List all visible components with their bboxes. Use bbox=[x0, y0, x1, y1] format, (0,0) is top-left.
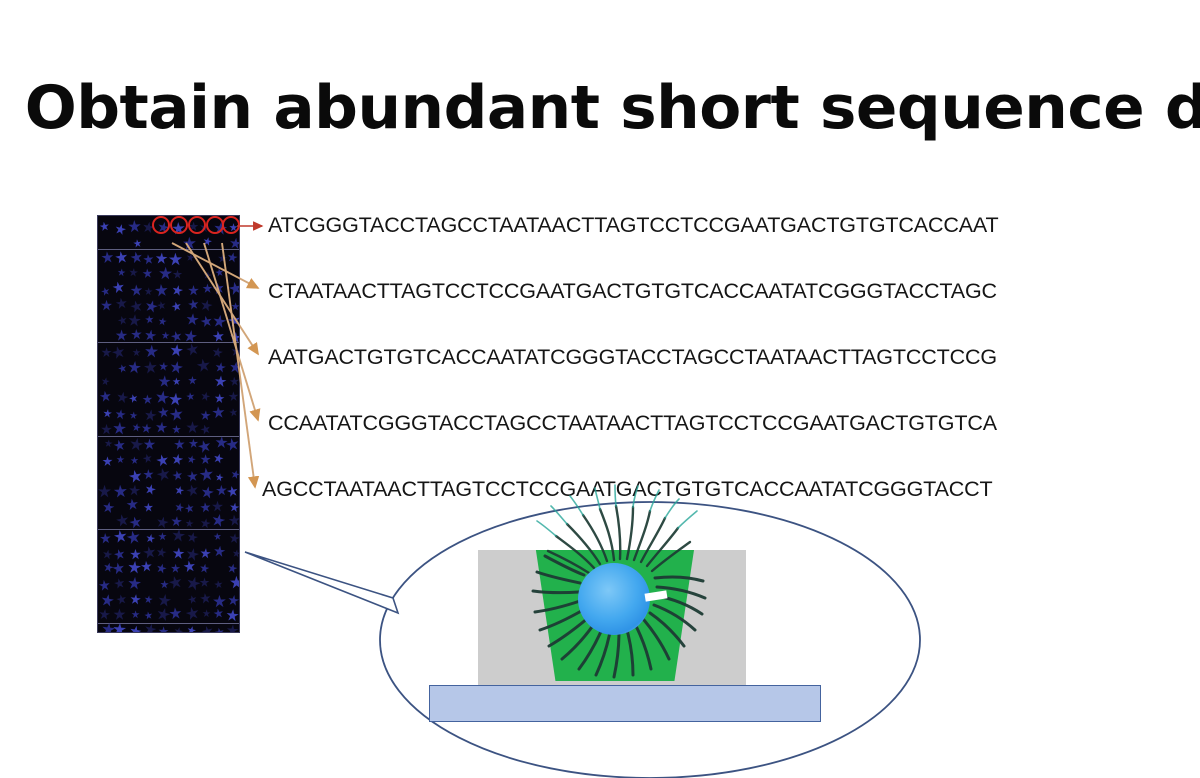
magnified-well-diagram bbox=[0, 0, 1200, 778]
sequencing-bead bbox=[578, 563, 650, 635]
substrate-slab bbox=[429, 685, 821, 722]
